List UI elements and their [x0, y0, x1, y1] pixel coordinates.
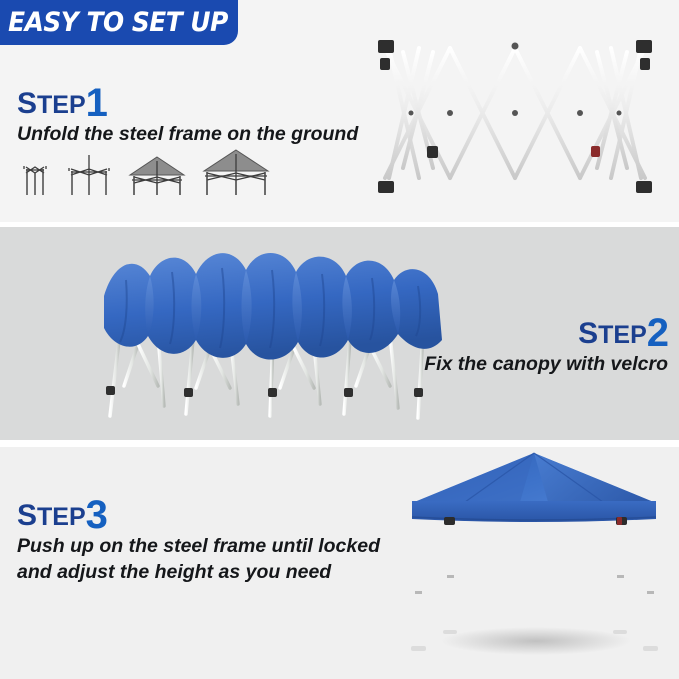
step-1-word-initial: S [17, 87, 37, 120]
step-1-description-line-1: Unfold the steel frame on the ground [17, 122, 358, 148]
step-1-band: EASY TO SET UP STEP1 Unfold the steel fr… [0, 0, 679, 222]
step-1-word: STEP [17, 91, 86, 119]
step-1-text-block: STEP1 Unfold the steel frame on the grou… [17, 80, 358, 148]
step-3-description-line-2: and adjust the height as you need [17, 560, 380, 586]
step-1-title: STEP1 [17, 80, 358, 120]
step-2-description-line-1: Fix the canopy with velcro [424, 352, 668, 378]
step-3-number: 3 [86, 493, 107, 537]
step-2-photo-draped-canopy [98, 236, 448, 440]
step-3-word-initial: S [17, 499, 37, 532]
step-3-word-rest: TEP [37, 503, 86, 531]
step-1-number: 1 [86, 81, 107, 125]
step-3-description-line-1: Push up on the steel frame until locked [17, 534, 380, 560]
step-2-text-block: STEP2 Fix the canopy with velcro [424, 310, 668, 378]
step-2-word: STEP [578, 321, 647, 349]
step-2-word-initial: S [578, 317, 598, 350]
step-3-word: STEP [17, 503, 86, 531]
step-3-title: STEP3 [17, 492, 380, 532]
instruction-infographic: EASY TO SET UP STEP1 Unfold the steel fr… [0, 0, 679, 679]
step-2-word-rest: TEP [598, 321, 647, 349]
canopy-fully-open-icon [200, 145, 272, 202]
header-banner: EASY TO SET UP [0, 0, 238, 45]
step-3-band: STEP3 Push up on the steel frame until l… [0, 447, 679, 679]
step-1-photo-steel-frame [355, 18, 675, 222]
canopy-partly-open-icon [126, 149, 188, 202]
frame-half-open-icon [64, 149, 114, 202]
step-2-band: STEP2 Fix the canopy with velcro [0, 227, 679, 440]
step-3-photo-assembled-canopy [398, 447, 673, 678]
step-3-text-block: STEP3 Push up on the steel frame until l… [17, 492, 380, 585]
header-banner-label: EASY TO SET UP [0, 7, 227, 38]
step-2-title: STEP2 [424, 310, 668, 350]
frame-folded-icon [18, 149, 52, 202]
step-2-number: 2 [647, 311, 668, 355]
frame-progression-icons [18, 145, 272, 202]
step-1-word-rest: TEP [37, 91, 86, 119]
